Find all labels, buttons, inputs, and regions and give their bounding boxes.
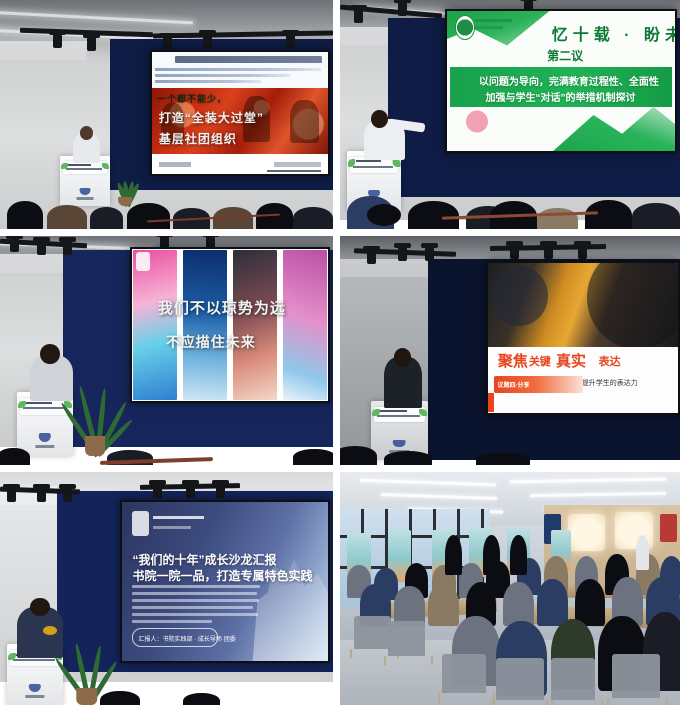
director-chair: [442, 654, 486, 694]
stage-lamp-icon: [398, 2, 407, 16]
wall-poster: [660, 514, 677, 542]
stage-lamp-icon: [510, 245, 519, 259]
speaker-head: [371, 110, 388, 128]
director-chair: [612, 654, 660, 698]
slide5-logo-icon: [132, 511, 149, 535]
photo-panel-5[interactable]: “我们的十年”成长沙龙汇报 书院一院一品，打造专属特色实践 汇报人：书院实践部 …: [0, 469, 337, 705]
slide5-pill-label: 汇报人：书院实践部 · 成长导师·团委: [138, 634, 235, 643]
slide5-headline-1: “我们的十年”成长沙龙汇报: [132, 551, 276, 568]
stage-lamp-icon: [37, 488, 46, 502]
stage-lamp-icon: [163, 37, 172, 51]
slide2-band-line-1: 以问题为导向，完满教育过程性、全面性: [479, 73, 659, 88]
stage-lamp-icon: [63, 241, 72, 255]
speaker-head: [394, 348, 411, 366]
presentation-screen: “我们的十年”成长沙龙汇报 书院一院一品，打造专属特色实践 汇报人：书院实践部 …: [120, 500, 330, 663]
slide2-band-line-2: 加强与学生“对话”的举措机制探讨: [486, 89, 636, 104]
director-chair: [388, 621, 425, 656]
stage-lamp-icon: [578, 245, 587, 259]
presentation-screen: 我们不以琼势为远 不应描住未来: [130, 247, 330, 403]
slide3-headline-2: 不应描住未来: [166, 332, 256, 352]
anniversary-10-icon: [462, 103, 492, 141]
slide2-brush-title: 忆十载 · 盼未来: [552, 21, 677, 45]
presentation-screen: 忆十载 · 盼未来 第二议 以问题为导向，完满教育过程性、全面性 加强与学生“对…: [445, 9, 676, 153]
stage-lamp-icon: [53, 34, 62, 48]
stage-lamp-icon: [425, 247, 434, 261]
stage-lamp-icon: [286, 34, 295, 48]
slide4-headline-b: 关键: [529, 353, 551, 369]
slide2-logo-icon: [455, 15, 475, 40]
stage-lamp-icon: [398, 247, 407, 261]
speaker-head: [40, 344, 60, 365]
speaker-head: [80, 126, 93, 140]
stage-lamp-icon: [63, 488, 72, 502]
slide4-headline-a: 聚焦: [498, 350, 528, 371]
speaker-badge-icon: [43, 626, 56, 635]
slide3-logo-icon: [136, 252, 150, 271]
stage-lamp-icon: [10, 238, 19, 252]
stage-lamp-icon: [186, 484, 195, 498]
stage-lamp-icon: [153, 484, 162, 498]
standing-host: [445, 535, 462, 575]
stage-lamp-icon: [87, 37, 96, 51]
presentation-screen: 聚焦 关键 真实 表达 完满教育实践学期促进一步提升学生的表达力 议题四·分享: [486, 261, 680, 414]
slide1-headline-1: 一个都不能少，: [157, 92, 227, 105]
slide5-headline-2: 书院一院一品，打造专属特色实践: [132, 567, 312, 584]
photo-panel-6[interactable]: [337, 469, 680, 705]
director-chair: [551, 658, 595, 700]
slide4-headline-d: 表达: [599, 353, 621, 369]
standing-host: [636, 535, 650, 570]
stage-lamp-icon: [203, 34, 212, 48]
photo-grid: 一个都不能少， 打造“全装大过堂” 基层社团组织: [0, 0, 680, 705]
podium-logo-icon: [29, 684, 41, 692]
slide4-headline-c: 真实: [556, 350, 586, 371]
photo-panel-2[interactable]: 忆十载 · 盼未来 第二议 以问题为导向，完满教育过程性、全面性 加强与学生“对…: [337, 0, 680, 233]
slide1-headline-2: 打造“全装大过堂”: [159, 109, 264, 126]
stage-lamp-icon: [544, 245, 553, 259]
slide1-headline-3: 基层社团组织: [159, 130, 237, 147]
photo-panel-3[interactable]: 我们不以琼势为远 不应描住未来: [0, 233, 337, 469]
director-chair: [354, 616, 391, 649]
standing-host: [510, 535, 527, 575]
presentation-screen: 一个都不能少， 打造“全装大过堂” 基层社团组织: [150, 50, 330, 176]
photo-panel-1[interactable]: 一个都不能少， 打造“全装大过堂” 基层社团组织: [0, 0, 337, 233]
stage-lamp-icon: [7, 488, 16, 502]
slide3-headline-1: 我们不以琼势为远: [158, 297, 286, 318]
stage-lamp-icon: [37, 241, 46, 255]
photo-panel-4[interactable]: 聚焦 关键 真实 表达 完满教育实践学期促进一步提升学生的表达力 议题四·分享: [337, 233, 680, 469]
standing-host: [483, 535, 500, 575]
director-chair: [496, 658, 544, 700]
light-box: [568, 514, 605, 551]
stage-lamp-icon: [354, 9, 363, 23]
potted-plant: [63, 626, 110, 705]
podium-logo-icon: [39, 433, 51, 441]
slide2-session-label: 第二议: [547, 47, 583, 64]
slide4-chip-label: 议题四·分享: [498, 380, 530, 389]
stage-lamp-icon: [367, 250, 376, 264]
stage-lamp-icon: [216, 484, 225, 498]
